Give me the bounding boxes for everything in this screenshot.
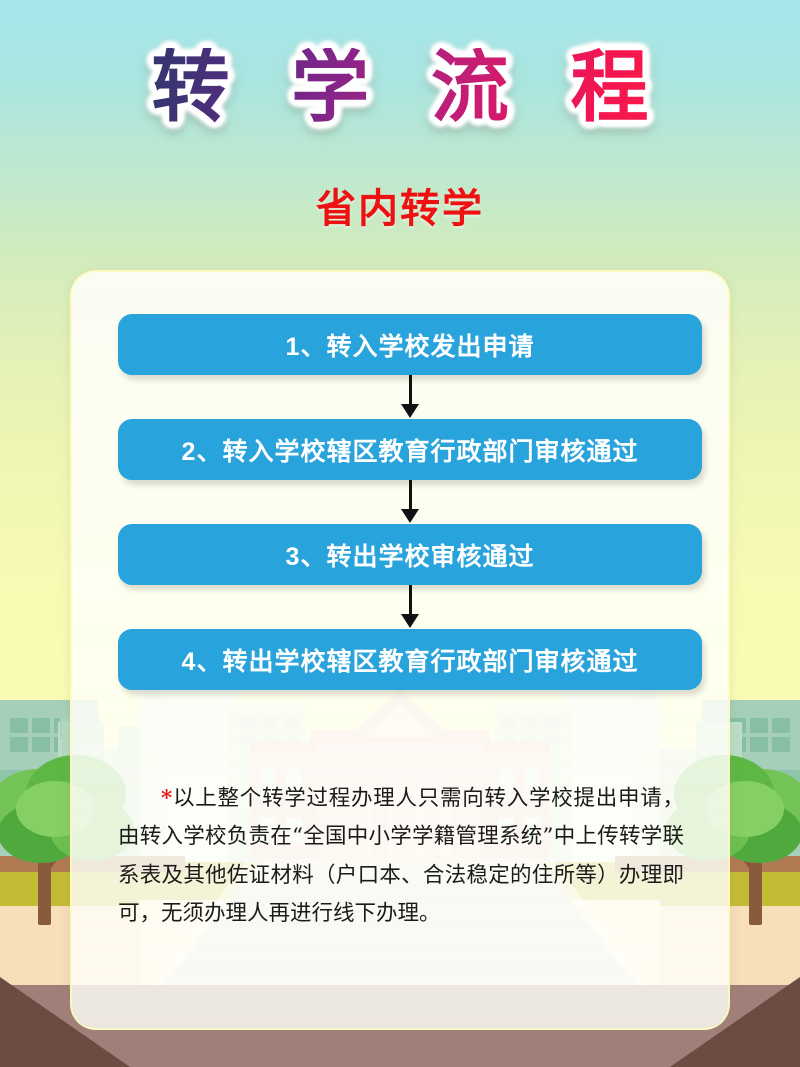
flow-arrow-2-head	[401, 509, 419, 523]
flow-step-1-label: 1、转入学校发出申请	[286, 327, 535, 363]
page-subtitle: 省内转学	[0, 176, 800, 234]
page-title: 转 学 流 程	[131, 48, 668, 126]
content-card: 1、转入学校发出申请 2、转入学校辖区教育行政部门审核通过 3、转出学校审核通过…	[70, 270, 730, 1030]
flow-step-2[interactable]: 2、转入学校辖区教育行政部门审核通过	[118, 419, 702, 480]
poster-title-wrap: 转 学 流 程	[0, 48, 800, 126]
flow-arrow-3	[118, 585, 702, 629]
flow-step-1[interactable]: 1、转入学校发出申请	[118, 314, 702, 375]
flow-arrow-1	[118, 375, 702, 419]
flow-step-3[interactable]: 3、转出学校审核通过	[118, 524, 702, 585]
flowchart: 1、转入学校发出申请 2、转入学校辖区教育行政部门审核通过 3、转出学校审核通过…	[118, 314, 702, 690]
footnote-text: 以上整个转学过程办理人只需向转入学校提出申请，由转入学校负责在“全国中小学学籍管…	[118, 786, 684, 926]
flow-step-4[interactable]: 4、转出学校辖区教育行政部门审核通过	[118, 629, 702, 690]
flow-arrow-3-head	[401, 614, 419, 628]
flow-arrow-1-head	[401, 404, 419, 418]
footnote: *以上整个转学过程办理人只需向转入学校提出申请，由转入学校负责在“全国中小学学籍…	[118, 780, 684, 933]
flow-step-2-label: 2、转入学校辖区教育行政部门审核通过	[182, 432, 639, 468]
flow-arrow-2	[118, 480, 702, 524]
flow-step-3-label: 3、转出学校审核通过	[286, 537, 535, 573]
footnote-asterisk: *	[161, 786, 172, 811]
flow-step-4-label: 4、转出学校辖区教育行政部门审核通过	[182, 642, 639, 678]
